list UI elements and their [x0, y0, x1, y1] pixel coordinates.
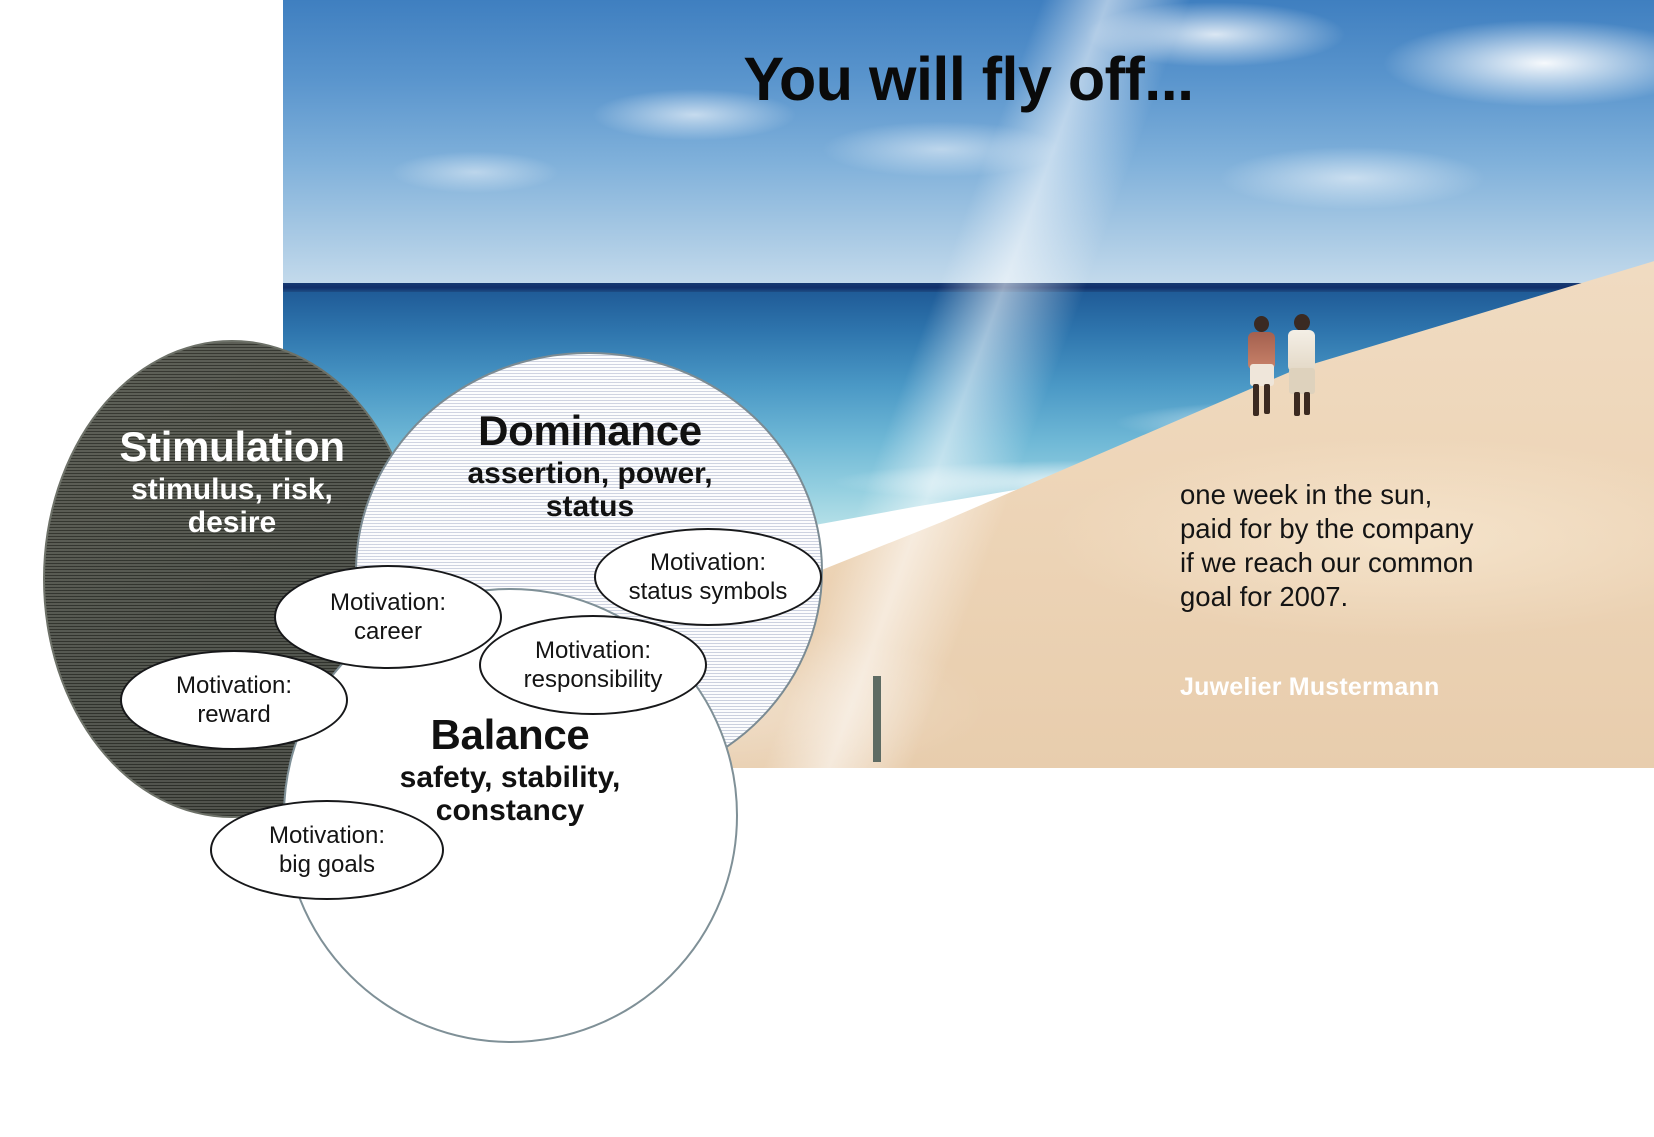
- slide-canvas: You will fly off... one week in the sun,…: [0, 0, 1654, 1137]
- motivation-status-symbols-line-1: Motivation:: [629, 548, 788, 577]
- motivation-career-line-1: Motivation:: [330, 588, 446, 617]
- promo-line-4: goal for 2007.: [1180, 580, 1560, 614]
- promo-line-1: one week in the sun,: [1180, 478, 1560, 512]
- motivation-responsibility-line-2: responsibility: [524, 665, 663, 694]
- label-stimulation-subtitle-line-1: stimulus, risk,: [50, 473, 414, 506]
- label-stimulation-subtitle-line-2: desire: [50, 506, 414, 539]
- photo-horizon-line: [283, 283, 1654, 292]
- motivation-big-goals[interactable]: Motivation: big goals: [210, 800, 444, 900]
- motivation-reward-line-1: Motivation:: [176, 671, 292, 700]
- page-title: You will fly off...: [283, 44, 1654, 114]
- motivation-big-goals-line-1: Motivation:: [269, 821, 385, 850]
- promo-line-3: if we reach our common: [1180, 546, 1560, 580]
- motivation-reward-line-2: reward: [176, 700, 292, 729]
- tick-mark: [873, 676, 881, 762]
- label-dominance-subtitle: assertion, power, status: [425, 457, 755, 523]
- label-stimulation: Stimulation stimulus, risk, desire: [50, 424, 414, 539]
- motivation-reward[interactable]: Motivation: reward: [120, 650, 348, 750]
- motivation-responsibility[interactable]: Motivation: responsibility: [479, 615, 707, 715]
- motivation-responsibility-line-1: Motivation:: [524, 636, 663, 665]
- motivation-career[interactable]: Motivation: career: [274, 565, 502, 669]
- label-dominance-subtitle-line-1: assertion, power,: [425, 457, 755, 490]
- label-stimulation-subtitle: stimulus, risk, desire: [50, 473, 414, 539]
- company-signature: Juwelier Mustermann: [1180, 673, 1439, 702]
- motivation-status-symbols-line-2: status symbols: [629, 577, 788, 606]
- promo-line-2: paid for by the company: [1180, 512, 1560, 546]
- label-dominance-subtitle-line-2: status: [425, 490, 755, 523]
- beach-walkers: [1240, 308, 1320, 418]
- label-stimulation-title: Stimulation: [50, 424, 414, 470]
- motivation-status-symbols[interactable]: Motivation: status symbols: [594, 528, 822, 626]
- label-balance-subtitle-line-1: safety, stability,: [320, 761, 700, 794]
- motivation-career-line-2: career: [330, 617, 446, 646]
- label-balance-title: Balance: [320, 712, 700, 758]
- promo-text: one week in the sun, paid for by the com…: [1180, 478, 1560, 614]
- motivation-big-goals-line-2: big goals: [269, 850, 385, 879]
- label-dominance: Dominance assertion, power, status: [425, 408, 755, 523]
- label-dominance-title: Dominance: [425, 408, 755, 454]
